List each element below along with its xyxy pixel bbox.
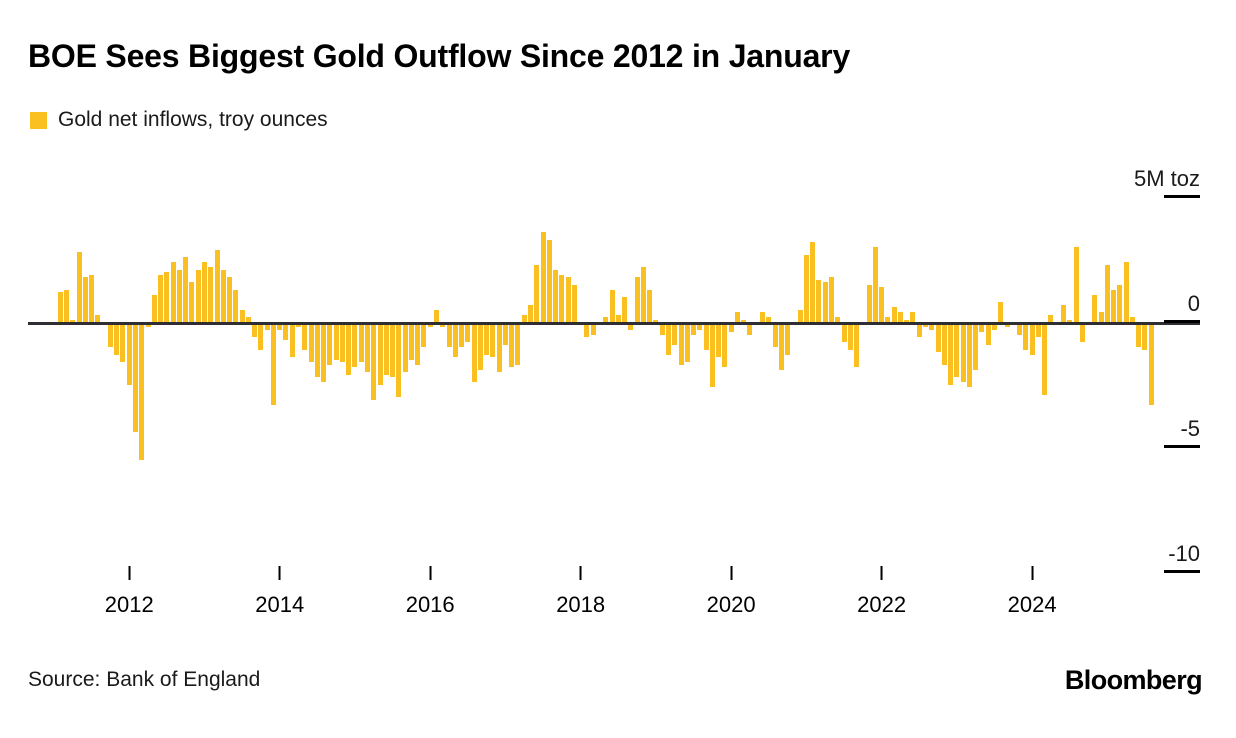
bar — [403, 322, 408, 372]
x-axis: 2012201420162018202020222024 — [28, 566, 1200, 636]
y-axis-tick-label: -10 — [1164, 541, 1200, 567]
bar — [710, 322, 715, 387]
legend: Gold net inflows, troy ounces — [30, 108, 328, 132]
bar — [415, 322, 420, 365]
bar — [541, 232, 546, 322]
x-axis-tick-mark — [128, 566, 130, 580]
bar — [722, 322, 727, 367]
bar — [359, 322, 364, 362]
bar — [133, 322, 138, 432]
bar — [522, 315, 527, 323]
bar — [334, 322, 339, 360]
x-axis-tick-label: 2014 — [255, 592, 304, 618]
x-axis-tick-label: 2018 — [556, 592, 605, 618]
bar — [64, 290, 69, 323]
bar — [327, 322, 332, 365]
bar — [1080, 322, 1085, 342]
x-axis-tick-mark — [429, 566, 431, 580]
bar — [83, 277, 88, 322]
bar — [998, 302, 1003, 322]
bar — [779, 322, 784, 370]
bar — [735, 312, 740, 322]
bar — [196, 270, 201, 323]
bar — [898, 312, 903, 322]
bar — [867, 285, 872, 323]
bar — [1048, 315, 1053, 323]
bar — [152, 295, 157, 323]
bar — [240, 310, 245, 323]
bar-series — [28, 150, 1200, 580]
bar — [647, 290, 652, 323]
bar — [961, 322, 966, 382]
bar — [1030, 322, 1035, 355]
bar — [472, 322, 477, 382]
bar — [139, 322, 144, 460]
bar — [509, 322, 514, 367]
bar — [672, 322, 677, 345]
y-axis-tick: 5M toz — [1134, 166, 1200, 198]
bar — [189, 282, 194, 322]
bar — [384, 322, 389, 375]
bar — [892, 307, 897, 322]
bar — [120, 322, 125, 362]
y-axis: 5M toz0-5-10 — [1100, 150, 1236, 590]
bar — [77, 252, 82, 322]
bar — [158, 275, 163, 323]
bar — [365, 322, 370, 372]
bar — [171, 262, 176, 322]
bar — [321, 322, 326, 382]
bar — [478, 322, 483, 370]
bar — [89, 275, 94, 323]
y-axis-tick: -5 — [1164, 416, 1200, 448]
bar — [114, 322, 119, 355]
bar — [503, 322, 508, 345]
bar — [785, 322, 790, 355]
x-axis-tick-mark — [279, 566, 281, 580]
bar — [164, 272, 169, 322]
x-axis-tick-mark — [580, 566, 582, 580]
bar — [622, 297, 627, 322]
bar — [453, 322, 458, 357]
bar — [616, 315, 621, 323]
bar — [666, 322, 671, 355]
bar — [635, 277, 640, 322]
bar — [215, 250, 220, 323]
bar — [716, 322, 721, 357]
bar — [346, 322, 351, 375]
legend-item-label: Gold net inflows, troy ounces — [58, 108, 328, 132]
bar — [58, 292, 63, 322]
page-title: BOE Sees Biggest Gold Outflow Since 2012… — [28, 38, 850, 75]
bar — [233, 290, 238, 323]
bar — [566, 277, 571, 322]
y-axis-tick-label: 5M toz — [1134, 166, 1200, 192]
bar — [221, 270, 226, 323]
bar — [854, 322, 859, 367]
plot-area — [28, 150, 1200, 580]
bar — [1074, 247, 1079, 322]
bar — [1061, 305, 1066, 323]
source-note: Source: Bank of England — [28, 668, 260, 692]
bar — [490, 322, 495, 357]
bar — [396, 322, 401, 397]
bar — [177, 270, 182, 323]
bar — [315, 322, 320, 377]
bar — [572, 285, 577, 323]
chart-page: BOE Sees Biggest Gold Outflow Since 2012… — [0, 0, 1236, 738]
bar — [936, 322, 941, 352]
bar — [948, 322, 953, 385]
bar — [679, 322, 684, 365]
bar — [409, 322, 414, 360]
bar — [804, 255, 809, 323]
bar — [227, 277, 232, 322]
bar — [685, 322, 690, 362]
bar — [967, 322, 972, 387]
bar — [290, 322, 295, 357]
bar — [873, 247, 878, 322]
x-axis-tick-label: 2024 — [1008, 592, 1057, 618]
bar — [910, 312, 915, 322]
y-axis-tick-mark — [1164, 445, 1200, 448]
bar — [183, 257, 188, 322]
bar — [108, 322, 113, 347]
bar — [848, 322, 853, 350]
bar — [484, 322, 489, 355]
x-axis-tick-mark — [881, 566, 883, 580]
bar — [421, 322, 426, 347]
bar — [465, 322, 470, 342]
y-axis-tick-mark — [1164, 320, 1200, 323]
bar — [390, 322, 395, 377]
bar — [1023, 322, 1028, 350]
bar — [954, 322, 959, 377]
bar — [773, 322, 778, 347]
bar — [559, 275, 564, 323]
bar — [258, 322, 263, 350]
bar — [1042, 322, 1047, 395]
x-axis-tick: 2022 — [857, 566, 906, 618]
bar — [528, 305, 533, 323]
bar — [352, 322, 357, 367]
bar — [942, 322, 947, 365]
bar — [95, 315, 100, 323]
bar — [704, 322, 709, 350]
bar — [447, 322, 452, 347]
square-swatch-icon — [30, 112, 47, 129]
bar — [842, 322, 847, 342]
x-axis-tick-mark — [1031, 566, 1033, 580]
bar — [816, 280, 821, 323]
bar — [760, 312, 765, 322]
bar — [553, 270, 558, 323]
bar — [823, 282, 828, 322]
bar — [798, 310, 803, 323]
bar — [515, 322, 520, 365]
x-axis-tick-mark — [730, 566, 732, 580]
x-axis-tick-label: 2016 — [406, 592, 455, 618]
bar — [202, 262, 207, 322]
bar — [810, 242, 815, 322]
y-axis-tick-label: 0 — [1164, 291, 1200, 317]
bar — [309, 322, 314, 362]
y-axis-tick: 0 — [1164, 291, 1200, 323]
bar — [610, 290, 615, 323]
bar — [547, 240, 552, 323]
x-axis-tick: 2024 — [1008, 566, 1057, 618]
bar — [459, 322, 464, 347]
x-axis-tick: 2012 — [105, 566, 154, 618]
bar — [534, 265, 539, 323]
bar — [879, 287, 884, 322]
bar — [1092, 295, 1097, 323]
bar — [127, 322, 132, 385]
bloomberg-logo: Bloomberg — [1065, 665, 1202, 696]
bar — [641, 267, 646, 322]
bar — [497, 322, 502, 372]
x-axis-tick: 2020 — [707, 566, 756, 618]
zero-baseline — [28, 322, 1200, 325]
x-axis-tick-label: 2022 — [857, 592, 906, 618]
bar — [340, 322, 345, 362]
bar — [208, 267, 213, 322]
bar — [371, 322, 376, 400]
bar — [434, 310, 439, 323]
x-axis-tick: 2014 — [255, 566, 304, 618]
bar — [829, 277, 834, 322]
bar — [302, 322, 307, 350]
bar — [271, 322, 276, 405]
bar — [378, 322, 383, 385]
x-axis-tick: 2016 — [406, 566, 455, 618]
x-axis-tick: 2018 — [556, 566, 605, 618]
bar — [973, 322, 978, 370]
x-axis-tick-label: 2012 — [105, 592, 154, 618]
x-axis-tick-label: 2020 — [707, 592, 756, 618]
y-axis-tick-mark — [1164, 195, 1200, 198]
y-axis-tick-label: -5 — [1164, 416, 1200, 442]
bar — [986, 322, 991, 345]
